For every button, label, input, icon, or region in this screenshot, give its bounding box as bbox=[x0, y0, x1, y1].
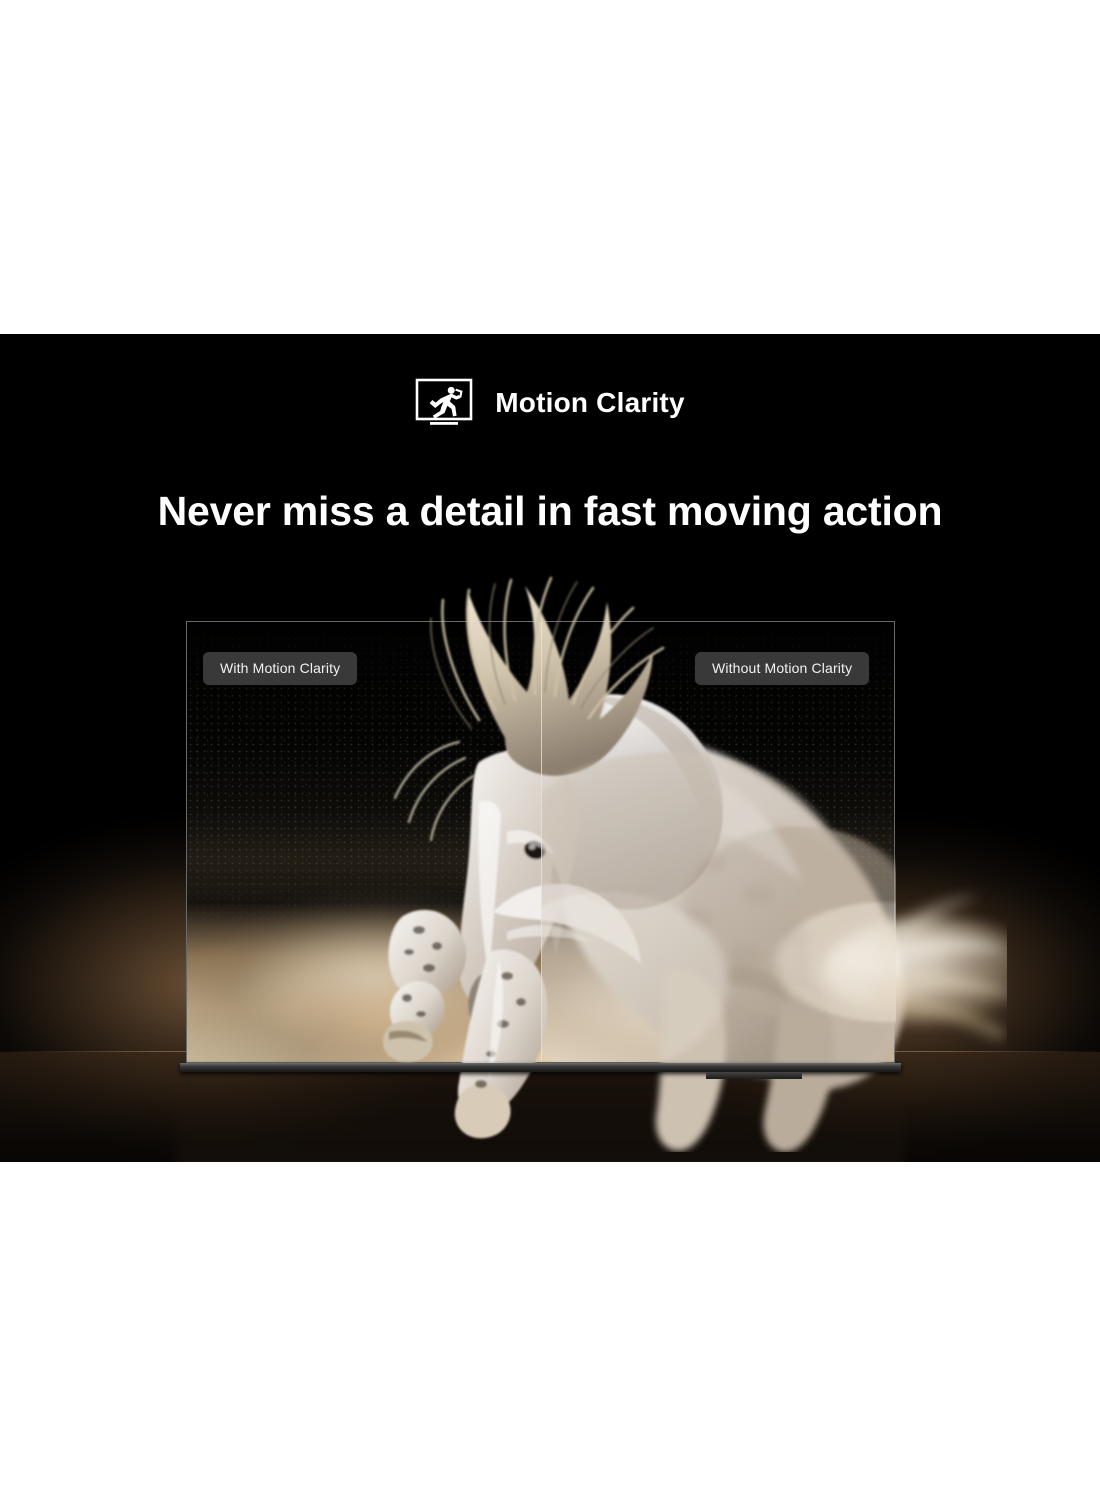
motion-clarity-banner: Motion Clarity Never miss a detail in fa… bbox=[0, 334, 1100, 1162]
dust-cloud-center bbox=[244, 948, 527, 1062]
comparison-divider bbox=[541, 622, 542, 1062]
badge-without-motion-clarity: Without Motion Clarity bbox=[695, 652, 869, 685]
feature-eyebrow: Motion Clarity bbox=[0, 378, 1100, 428]
dust-cloud-right bbox=[484, 895, 894, 1062]
page-title: Never miss a detail in fast moving actio… bbox=[0, 489, 1100, 534]
page-root: Motion Clarity Never miss a detail in fa… bbox=[0, 0, 1100, 1500]
tv-comparison-panel: With Motion Clarity Without Motion Clari… bbox=[186, 621, 895, 1063]
badge-with-motion-clarity: With Motion Clarity bbox=[203, 652, 357, 685]
tv-floor-reflection bbox=[176, 1080, 905, 1162]
tv-screen: With Motion Clarity Without Motion Clari… bbox=[186, 621, 895, 1063]
tv-running-figure-icon bbox=[415, 378, 473, 428]
tv-bottom-bezel bbox=[180, 1063, 901, 1072]
tv-stand-foot bbox=[706, 1072, 802, 1079]
eyebrow-label: Motion Clarity bbox=[495, 389, 684, 417]
